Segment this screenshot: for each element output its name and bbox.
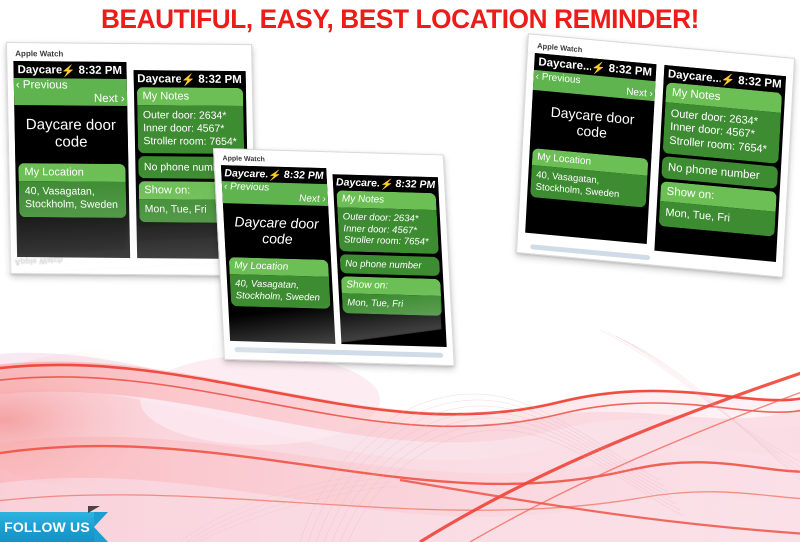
notes-card[interactable]: My Notes Outer door: 2634* Inner door: 4… — [336, 190, 438, 253]
notes-card-body: Outer door: 2634* Inner door: 4567* Stro… — [663, 102, 781, 164]
location-card[interactable]: My Location 40, Vasagatan, Stockholm, Sw… — [229, 257, 331, 309]
notes-line-3: Stroller room: 7654* — [143, 135, 238, 149]
status-right: ⚡ 8:32 PM — [379, 177, 436, 192]
charging-bolt-icon: ⚡ — [591, 60, 606, 75]
location-card-header: My Location — [18, 163, 125, 182]
pager-navbar[interactable]: ‹ Previous Next › — [222, 181, 328, 206]
reminder-title: Daycare door code — [223, 203, 331, 260]
next-button[interactable]: Next › — [626, 86, 653, 101]
status-right: ⚡ 8:32 PM — [181, 72, 242, 87]
notes-card-header: My Notes — [136, 87, 243, 106]
previous-button[interactable]: ‹ Previous — [16, 78, 68, 92]
notes-line-2: Inner door: 4567* — [143, 122, 238, 136]
watch-screen-reminder: Daycare... ⚡ 8:32 PM ‹ Previous Next › D… — [525, 53, 656, 244]
status-time: 8:32 PM — [608, 62, 652, 78]
charging-bolt-icon: ⚡ — [379, 177, 393, 190]
status-bar: Daycare... ⚡ 8:32 PM — [133, 70, 246, 88]
charging-bolt-icon: ⚡ — [721, 72, 736, 87]
status-time: 8:32 PM — [78, 64, 122, 76]
watch-preview-center: Apple Watch Daycare... ⚡ 8:32 PM ‹ Previ… — [213, 148, 455, 366]
charging-bolt-icon: ⚡ — [267, 168, 281, 181]
follow-us-label: FOLLOW US — [0, 512, 94, 542]
notes-card[interactable]: My Notes Outer door: 2634* Inner door: 4… — [136, 87, 244, 154]
status-time: 8:32 PM — [395, 178, 435, 191]
status-right: ⚡ 8:32 PM — [267, 168, 324, 183]
location-card[interactable]: My Location 40, Vasagatan, Stockholm, Sw… — [530, 148, 648, 208]
show-on-card[interactable]: Show on: Mon, Tue, Fri — [341, 276, 442, 316]
device-frame: Apple Watch Daycare... ⚡ 8:32 PM ‹ Previ… — [516, 33, 795, 277]
location-card-body: 40, Vasagatan, Stockholm, Sweden — [19, 181, 126, 218]
charging-bolt-icon: ⚡ — [181, 72, 196, 86]
device-frame: Apple Watch Daycare... ⚡ 8:32 PM ‹ Previ… — [213, 148, 455, 366]
watch-screen-notes: Daycare... ⚡ 8:32 PM My Notes Outer door… — [333, 174, 447, 347]
screen-group: Daycare... ⚡ 8:32 PM ‹ Previous Next › D… — [221, 165, 447, 347]
show-on-card[interactable]: Show on: Mon, Tue, Fri — [659, 181, 777, 236]
status-time: 8:32 PM — [198, 73, 242, 85]
previous-button[interactable]: ‹ Previous — [535, 70, 581, 87]
notes-card-body: Outer door: 2634* Inner door: 4567* Stro… — [137, 105, 244, 154]
device-frame-label: Apple Watch — [15, 49, 245, 60]
location-card[interactable]: My Location 40, Vasagatan, Stockholm, Sw… — [18, 163, 126, 218]
show-on-body: Mon, Tue, Fri — [342, 293, 442, 316]
status-app-title: Daycare... — [224, 167, 268, 180]
poster-stage: BEAUTIFUL, EASY, BEST LOCATION REMINDER! — [0, 0, 800, 542]
screen-group: Daycare... ⚡ 8:32 PM ‹ Previous Next › D… — [525, 53, 786, 262]
next-button[interactable]: Next › — [299, 193, 326, 206]
status-time: 8:32 PM — [738, 74, 782, 90]
watch-screen-reminder: Daycare... ⚡ 8:32 PM ‹ Previous Next › D… — [13, 61, 129, 258]
reminder-title: Daycare door code — [14, 105, 128, 164]
page-title: BEAUTIFUL, EASY, BEST LOCATION REMINDER! — [12, 4, 788, 35]
next-button[interactable]: Next › — [94, 92, 125, 106]
status-time: 8:32 PM — [284, 169, 324, 182]
watch-preview-right: Apple Watch Daycare... ⚡ 8:32 PM ‹ Previ… — [516, 33, 795, 277]
watch-screen-notes: Daycare... ⚡ 8:32 PM My Notes Outer door… — [654, 65, 786, 262]
notes-line-3: Stroller room: 7654* — [344, 235, 434, 249]
status-app-title: Daycare... — [17, 64, 61, 76]
location-card-body: 40, Vasagatan, Stockholm, Sweden — [230, 274, 331, 309]
pager-navbar[interactable]: ‹ Previous Next › — [14, 78, 127, 106]
status-bar: Daycare... ⚡ 8:32 PM — [13, 61, 126, 79]
scrollbar[interactable] — [234, 347, 443, 358]
status-app-title: Daycare... — [336, 176, 380, 189]
notes-line-1: Outer door: 2634* — [143, 109, 238, 123]
phone-card[interactable]: No phone number — [340, 254, 440, 276]
notes-card[interactable]: My Notes Outer door: 2634* Inner door: 4… — [663, 82, 782, 164]
follow-us-ribbon[interactable]: FOLLOW US — [0, 512, 108, 542]
status-app-title: Daycare... — [137, 73, 181, 85]
charging-bolt-icon: ⚡ — [61, 63, 76, 77]
notes-card-body: Outer door: 2634* Inner door: 4567* Stro… — [337, 207, 439, 253]
ribbon-tail — [94, 512, 108, 542]
status-right: ⚡ 8:32 PM — [61, 63, 122, 78]
watch-screen-reminder: Daycare... ⚡ 8:32 PM ‹ Previous Next › D… — [221, 165, 336, 344]
previous-button[interactable]: ‹ Previous — [224, 181, 270, 194]
